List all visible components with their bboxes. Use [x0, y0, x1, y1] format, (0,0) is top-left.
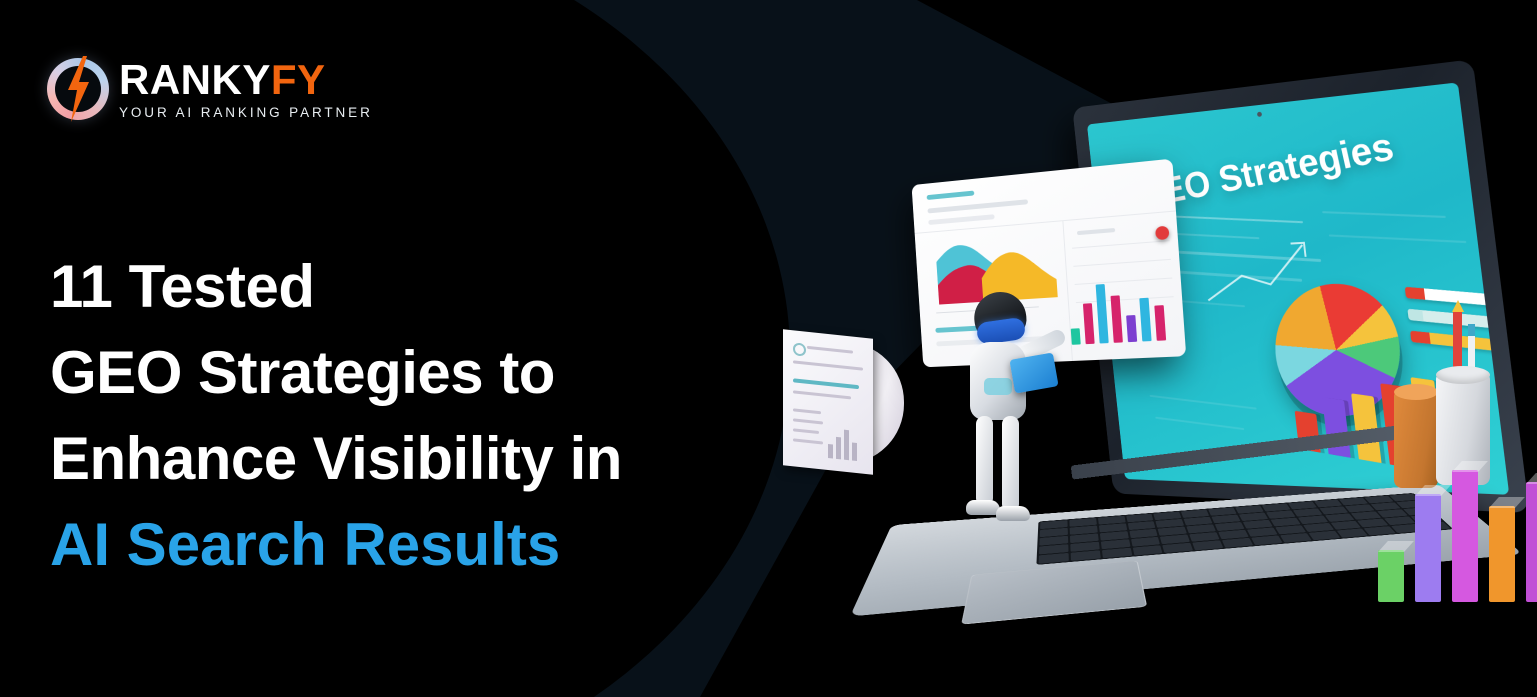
bolt-glyph [61, 56, 95, 122]
headline-line-1: 11 Tested [50, 244, 790, 330]
banner-canvas: RANKYFY YOUR AI RANKING PARTNER 11 Teste… [0, 0, 1537, 697]
side-bar [1526, 482, 1537, 602]
panel-bar [1083, 303, 1095, 344]
webcam-icon [1257, 112, 1262, 117]
panel-bar [1071, 328, 1081, 345]
lightning-bolt-in-circle-icon [47, 58, 109, 120]
robot-leg-left [976, 416, 993, 506]
screen-bar [1322, 397, 1351, 458]
keyboard-key[interactable] [1163, 543, 1194, 553]
keyboard-key[interactable] [1102, 548, 1132, 558]
robot-leg-right [1002, 416, 1019, 512]
panel-bar [1096, 284, 1109, 343]
side-3d-bar-chart [1378, 470, 1537, 602]
brand-logo[interactable]: RANKYFY YOUR AI RANKING PARTNER [47, 58, 375, 120]
panel-bar [1139, 298, 1151, 342]
robot-foot-right [996, 506, 1030, 521]
brand-tagline: YOUR AI RANKING PARTNER [119, 106, 375, 120]
headline-line-3: Enhance Visibility in [50, 416, 790, 502]
keyboard-key[interactable] [1336, 528, 1368, 537]
side-bar [1378, 550, 1404, 602]
keyboard-key[interactable] [1280, 533, 1311, 543]
page-title: 11 Tested GEO Strategies to Enhance Visi… [50, 244, 790, 588]
panel-bar [1126, 315, 1137, 342]
brand-wordmark: RANKYFY YOUR AI RANKING PARTNER [119, 59, 375, 120]
hero-illustration: GEO Strategies [760, 0, 1537, 697]
panel-bar [1111, 295, 1123, 342]
ai-robot-figure [950, 292, 1070, 552]
keyboard-key[interactable] [1132, 545, 1162, 555]
keyboard-key[interactable] [1193, 540, 1224, 550]
headline-line-4-accent: AI Search Results [50, 502, 790, 588]
keyboard-key[interactable] [1251, 535, 1282, 545]
brand-name-primary: RANKY [119, 56, 271, 103]
laptop-trackpad[interactable] [961, 560, 1147, 624]
keyboard-key[interactable] [1222, 538, 1253, 548]
side-bar [1489, 506, 1515, 602]
side-bar [1452, 470, 1478, 602]
robot-chest-panel [984, 378, 1012, 395]
panel-bar-chart [1067, 274, 1166, 345]
keyboard-key[interactable] [1070, 550, 1100, 561]
side-bar [1415, 494, 1441, 602]
robot-tablet-icon [1009, 352, 1058, 393]
keyboard-key[interactable] [1039, 553, 1069, 564]
brand-name-accent: FY [271, 56, 326, 103]
headline-line-2: GEO Strategies to [50, 330, 790, 416]
notification-badge-icon[interactable] [1155, 226, 1169, 241]
document-avatar-dot [793, 342, 806, 356]
panel-bar [1154, 305, 1166, 341]
robot-foot-left [966, 500, 1000, 515]
keyboard-key[interactable] [1308, 531, 1340, 540]
